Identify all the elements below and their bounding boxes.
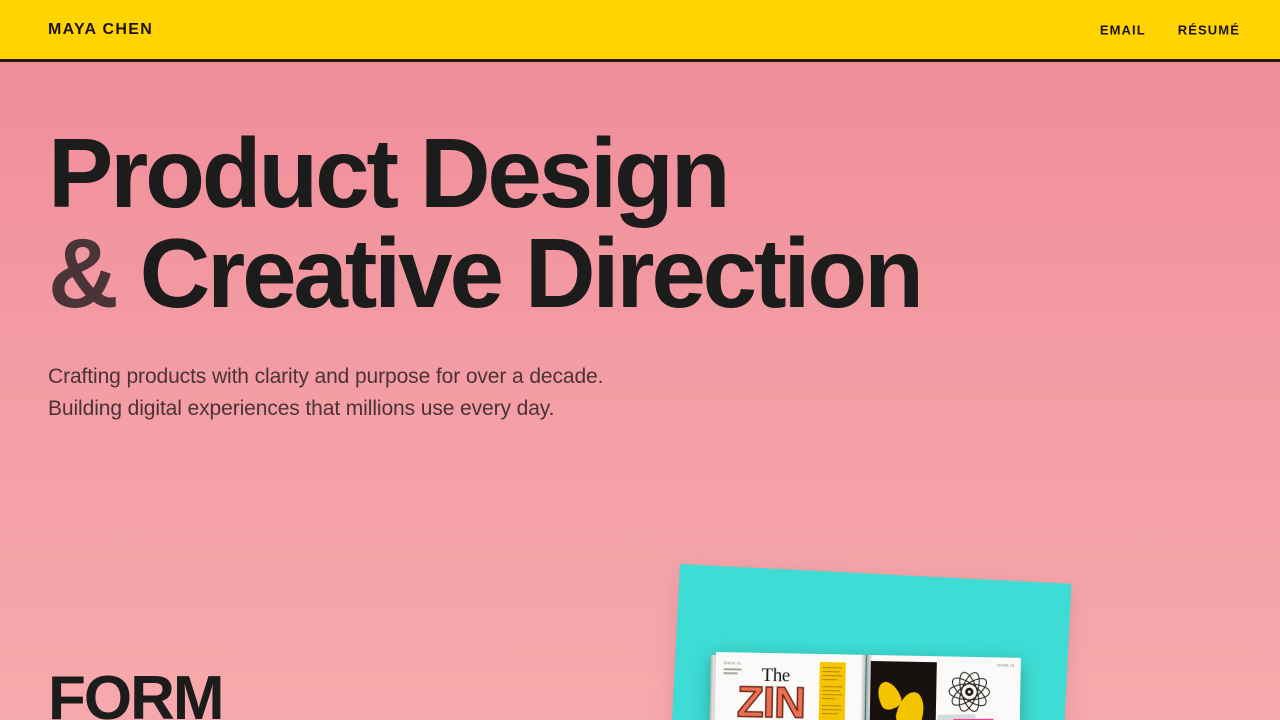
magazine-gutter-shadow [859, 655, 873, 720]
decor-rule [822, 705, 841, 707]
decor-rule [823, 675, 843, 677]
magazine-right-page: ISSUE 01 [865, 655, 1021, 720]
decor-rule [822, 690, 840, 692]
nav-link-email[interactable]: EMAIL [1100, 22, 1146, 37]
folio-left: ISSUE 01 [724, 661, 742, 665]
folio-right: ISSUE 01 [997, 663, 1015, 667]
hero-section: Product Design & Creative Direction Craf… [48, 125, 921, 425]
hero-photo: ISSUE 01 The ZIN [676, 558, 1080, 720]
atom-diagram-icon [946, 668, 993, 715]
decor-rule [724, 672, 738, 674]
magazine-left-page: ISSUE 01 The ZIN [714, 652, 866, 720]
decor-rule [823, 671, 840, 673]
decor-rule [822, 694, 842, 696]
hero-subcopy-line-1: Crafting products with clarity and purpo… [48, 361, 921, 393]
hero-ampersand: & [48, 218, 116, 328]
hero-subcopy: Crafting products with clarity and purpo… [48, 361, 921, 425]
hero-headline-line-1: Product Design [48, 125, 921, 221]
portfolio-page: MAYA CHEN EMAIL RÉSUMÉ Product Design & … [0, 0, 1280, 720]
primary-nav: EMAIL RÉSUMÉ [1100, 22, 1240, 37]
decor-rule [822, 698, 835, 700]
hero-subcopy-line-2: Building digital experiences that millio… [48, 393, 921, 425]
brand-wordmark[interactable]: MAYA CHEN [48, 21, 153, 39]
decor-rule [822, 686, 842, 688]
hero-headline-line-2-text: Creative Direction [116, 218, 921, 328]
magazine-title: ZIN [737, 680, 806, 720]
site-header: MAYA CHEN EMAIL RÉSUMÉ [0, 0, 1280, 62]
decor-rule [823, 667, 842, 669]
open-magazine: ISSUE 01 The ZIN [714, 652, 1021, 720]
decor-rule [822, 709, 842, 711]
decor-rule [724, 668, 742, 670]
magazine-yellow-sidebar [818, 662, 845, 720]
decor-rule [822, 713, 838, 715]
section-heading-form: FORM [48, 668, 223, 720]
magazine-black-panel [869, 661, 937, 720]
decor-rule [822, 679, 837, 681]
nav-link-resume[interactable]: RÉSUMÉ [1178, 22, 1240, 37]
hero-headline-line-2: & Creative Direction [48, 225, 921, 321]
